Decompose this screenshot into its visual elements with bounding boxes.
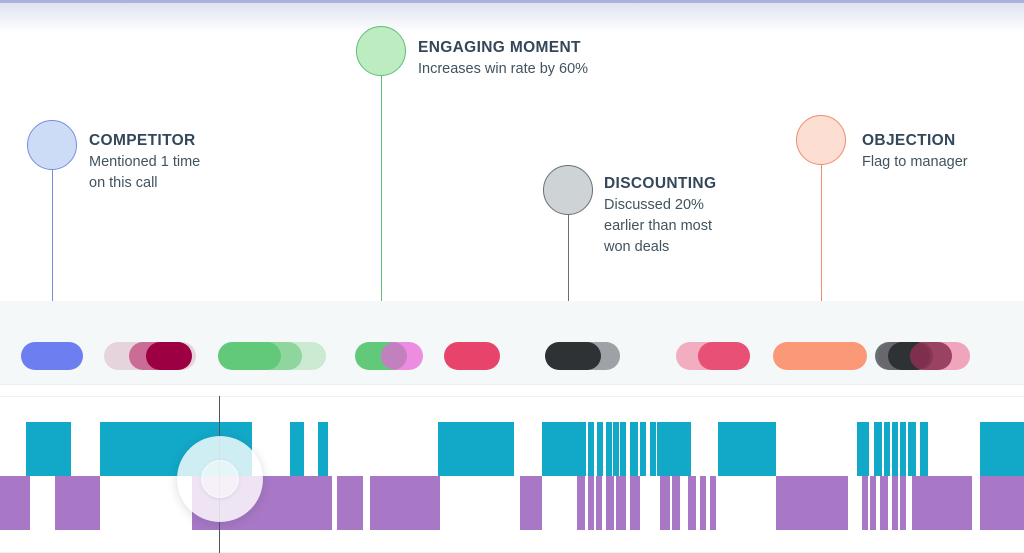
waveform-rep-segment xyxy=(874,422,882,476)
waveform-customer-segment xyxy=(577,476,585,530)
waveform-rep-segment xyxy=(26,422,71,476)
callout-desc-objection: Flag to manager xyxy=(862,152,968,173)
callout-competitor: COMPETITORMentioned 1 timeon this call xyxy=(89,131,200,194)
waveform-customer-segment xyxy=(0,476,30,530)
waveform-customer-segment xyxy=(55,476,100,530)
waveform-rep-segment xyxy=(620,422,626,476)
call-insights-timeline: COMPETITORMentioned 1 timeon this callEN… xyxy=(0,0,1024,553)
waveform-rep-segment xyxy=(980,422,1024,476)
waveform-track[interactable] xyxy=(0,396,1024,553)
callout-title-objection: OBJECTION xyxy=(862,131,968,150)
pink-overlay-pill[interactable] xyxy=(381,342,423,370)
waveform-customer-segment xyxy=(588,476,594,530)
waveform-customer-segment xyxy=(630,476,640,530)
playhead-scrubber[interactable] xyxy=(177,436,263,522)
objection-main-pill[interactable] xyxy=(773,342,867,370)
waveform-customer-segment xyxy=(900,476,906,530)
waveform-rep-segment xyxy=(884,422,890,476)
waveform-rep-segment xyxy=(718,422,776,476)
waveform-rep-segment xyxy=(640,422,646,476)
waveform-rep-segment xyxy=(920,422,928,476)
waveform-customer-segment xyxy=(370,476,440,530)
callout-dot-objection[interactable] xyxy=(796,115,846,165)
waveform-rep-segment xyxy=(438,422,514,476)
waveform-rep-segment xyxy=(857,422,869,476)
callout-objection: OBJECTIONFlag to manager xyxy=(862,131,968,173)
callout-desc-engaging-moment: Increases win rate by 60% xyxy=(418,59,588,80)
callout-discounting: DISCOUNTINGDiscussed 20%earlier than mos… xyxy=(604,174,716,257)
waveform-customer-segment xyxy=(710,476,716,530)
waveform-customer-segment xyxy=(980,476,1024,530)
waveform-customer-segment xyxy=(862,476,868,530)
waveform-rep-segment xyxy=(900,422,906,476)
callout-desc-discounting: Discussed 20%earlier than mostwon deals xyxy=(604,195,716,257)
callout-title-competitor: COMPETITOR xyxy=(89,131,200,150)
waveform-rep-segment xyxy=(542,422,586,476)
callout-dot-discounting[interactable] xyxy=(543,165,593,215)
callout-title-discounting: DISCOUNTING xyxy=(604,174,716,193)
waveform-customer-segment xyxy=(616,476,626,530)
waveform-customer-segment xyxy=(337,476,363,530)
next-wine-pill[interactable] xyxy=(910,342,952,370)
band-bottom-divider xyxy=(0,384,1024,385)
waveform-top-divider xyxy=(0,396,1024,397)
topic-band xyxy=(0,301,1024,385)
waveform-rep-segment xyxy=(606,422,612,476)
waveform-customer-segment xyxy=(688,476,696,530)
waveform-customer-segment xyxy=(520,476,542,530)
waveform-rep-segment xyxy=(650,422,656,476)
waveform-rep-segment xyxy=(318,422,328,476)
waveform-rep-segment xyxy=(588,422,594,476)
callout-dot-competitor[interactable] xyxy=(27,120,77,170)
interest-pill[interactable] xyxy=(444,342,500,370)
waveform-customer-segment xyxy=(596,476,602,530)
waveform-customer-segment xyxy=(776,476,848,530)
discount-pill[interactable] xyxy=(545,342,601,370)
callout-dot-engaging-moment[interactable] xyxy=(356,26,406,76)
waveform-customer-segment xyxy=(660,476,670,530)
waveform-rep-segment xyxy=(892,422,898,476)
waveform-customer-segment xyxy=(892,476,898,530)
waveform-rep-segment xyxy=(290,422,304,476)
waveform-customer-segment xyxy=(912,476,972,530)
waveform-customer-segment xyxy=(672,476,680,530)
waveform-rep-segment xyxy=(613,422,619,476)
objection-strong-pill[interactable] xyxy=(146,342,192,370)
callout-engaging-moment: ENGAGING MOMENTIncreases win rate by 60% xyxy=(418,38,588,80)
top-gradient-fade xyxy=(0,3,1024,33)
callout-desc-competitor: Mentioned 1 timeon this call xyxy=(89,152,200,193)
waveform-rep-segment xyxy=(630,422,638,476)
waveform-customer-segment xyxy=(700,476,706,530)
competitor-pill[interactable] xyxy=(21,342,83,370)
callout-title-engaging-moment: ENGAGING MOMENT xyxy=(418,38,588,57)
waveform-customer-segment xyxy=(880,476,888,530)
pricing-pill[interactable] xyxy=(698,342,750,370)
engaging-pill[interactable] xyxy=(218,342,281,370)
waveform-rep-segment xyxy=(657,422,691,476)
waveform-customer-segment xyxy=(870,476,876,530)
waveform-rep-segment xyxy=(908,422,916,476)
waveform-customer-segment xyxy=(606,476,614,530)
waveform-rep-segment xyxy=(597,422,603,476)
